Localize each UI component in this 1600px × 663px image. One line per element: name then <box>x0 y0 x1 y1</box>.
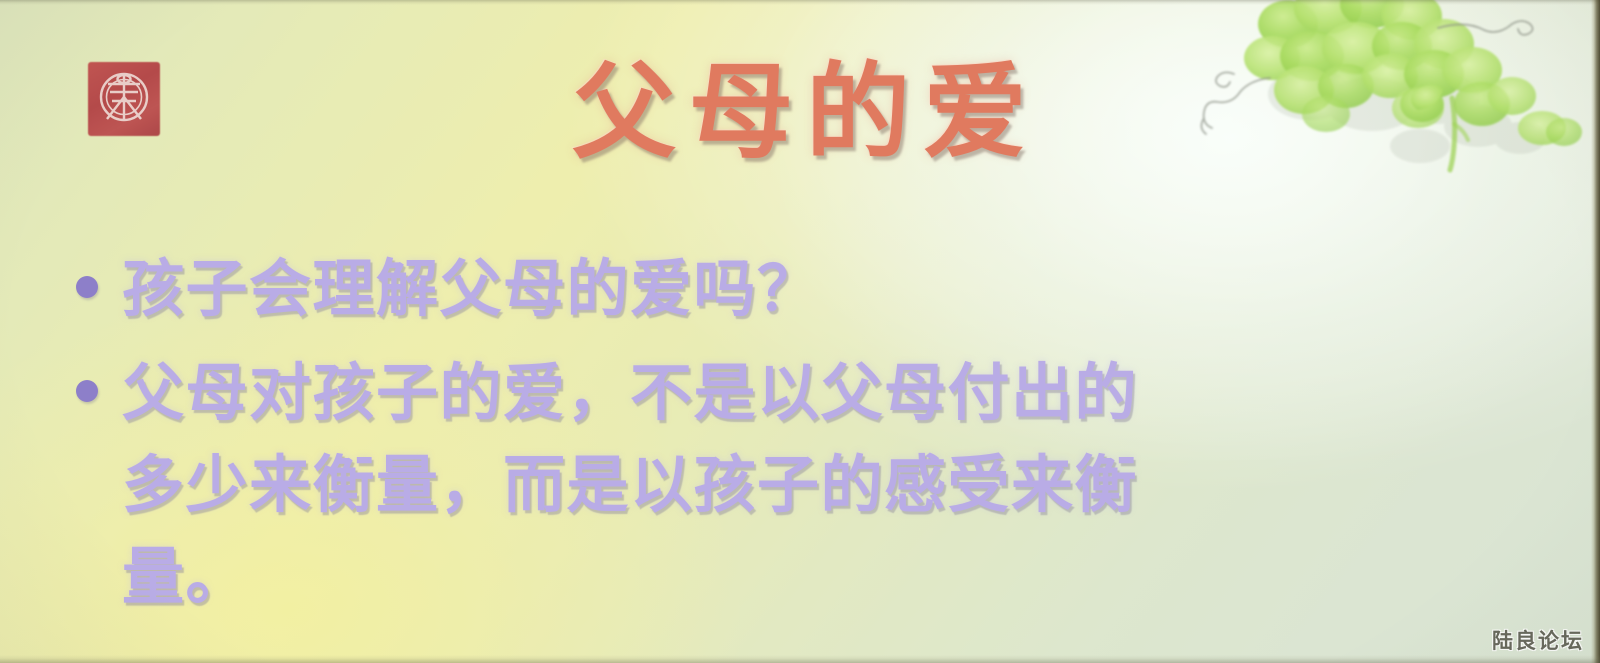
forum-watermark: 陆良论坛 <box>1492 625 1584 655</box>
bullet-dot-icon <box>76 380 98 402</box>
screen-edge-bottom <box>0 655 1600 663</box>
bullet-text: 父母对孩子的爱，不是以父母付出的 多少来衡量，而是以孩子的感受来衡 量。 <box>122 347 1496 623</box>
presentation-slide: 父母的爱 孩子会理解父母的爱吗？ 父母对孩子的爱，不是以父母付出的 多少来衡量，… <box>0 0 1600 663</box>
bullet-line: 量。 <box>122 531 1496 623</box>
bullet-dot-icon <box>76 276 98 298</box>
bullet-line: 父母对孩子的爱，不是以父母付出的 <box>122 347 1496 439</box>
slide-body: 孩子会理解父母的爱吗？ 父母对孩子的爱，不是以父母付出的 多少来衡量，而是以孩子… <box>76 243 1496 635</box>
bullet-text: 孩子会理解父母的爱吗？ <box>122 243 1496 335</box>
bullet-line: 孩子会理解父母的爱吗？ <box>122 243 1496 335</box>
bullet-line: 多少来衡量，而是以孩子的感受来衡 <box>122 439 1496 531</box>
bullet-item: 孩子会理解父母的爱吗？ <box>76 243 1496 335</box>
slide-title: 父母的爱 <box>0 56 1600 168</box>
bullet-item: 父母对孩子的爱，不是以父母付出的 多少来衡量，而是以孩子的感受来衡 量。 <box>76 347 1496 623</box>
screen-edge-top <box>0 0 1600 5</box>
